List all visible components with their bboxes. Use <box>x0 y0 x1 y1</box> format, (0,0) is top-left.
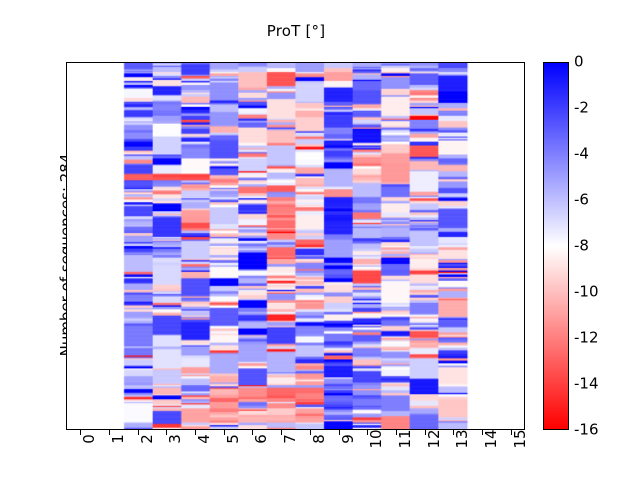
x-axis: 0123456789101112131415 <box>66 430 525 480</box>
heatmap-image <box>67 63 524 429</box>
x-axis-tick-label: 6 <box>252 422 270 456</box>
x-axis-tick-label: 0 <box>80 422 98 456</box>
colorbar-tick-label: 0 <box>574 55 584 70</box>
colorbar-tick-label: -16 <box>574 423 599 438</box>
colorbar: 0-2-4-6-8-10-12-14-16 <box>543 62 569 430</box>
x-axis-tick-label: 14 <box>482 422 500 456</box>
x-axis-tick-label: 13 <box>453 422 471 456</box>
x-axis-tick-label: 7 <box>281 422 299 456</box>
colorbar-gradient <box>543 62 569 430</box>
colorbar-tick-label: -8 <box>574 239 589 254</box>
colorbar-tick-label: -10 <box>574 285 599 300</box>
colorbar-tick-label: -12 <box>574 331 599 346</box>
colorbar-tick-label: -14 <box>574 377 599 392</box>
x-axis-tick-label: 2 <box>138 422 156 456</box>
x-axis-tick-label: 9 <box>339 422 357 456</box>
x-axis-tick-label: 12 <box>425 422 443 456</box>
chart-title: ProT [°] <box>0 22 592 40</box>
x-axis-tick-label: 5 <box>224 422 242 456</box>
x-axis-tick-label: 15 <box>511 422 529 456</box>
colorbar-tick-label: -6 <box>574 193 589 208</box>
x-axis-tick-label: 10 <box>367 422 385 456</box>
colorbar-tick-label: -2 <box>574 101 589 116</box>
x-axis-tick-label: 11 <box>396 422 414 456</box>
heatmap-plot-area <box>66 62 525 430</box>
x-axis-tick-label: 1 <box>109 422 127 456</box>
x-axis-tick-label: 4 <box>195 422 213 456</box>
x-axis-tick-label: 3 <box>166 422 184 456</box>
x-axis-tick-label: 8 <box>310 422 328 456</box>
colorbar-tick-label: -4 <box>574 147 589 162</box>
